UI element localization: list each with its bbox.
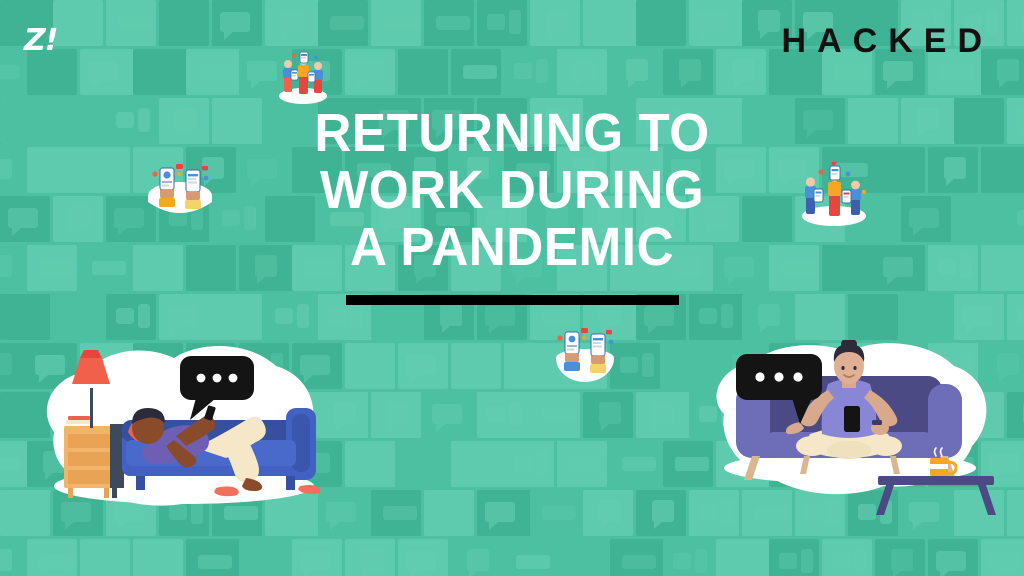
left-scene-person-on-couch — [24, 336, 344, 526]
brand-logo[interactable]: Z! — [24, 26, 57, 56]
people-group-with-phones-top-icon — [272, 50, 334, 106]
hacked-wordmark: HACKED — [782, 24, 993, 58]
people-group-with-phones-right-icon — [792, 162, 876, 228]
two-hands-holding-phones-center-icon — [548, 324, 622, 386]
poster-canvas: Z! HACKED RETURNING TO WORK DURING A PAN… — [0, 0, 1024, 576]
two-hands-holding-phones-left-icon — [142, 162, 218, 220]
headline-underline-rule — [346, 295, 679, 305]
right-scene-woman-on-couch — [700, 340, 1000, 525]
headline-line-1: RETURNING TO — [26, 105, 999, 162]
